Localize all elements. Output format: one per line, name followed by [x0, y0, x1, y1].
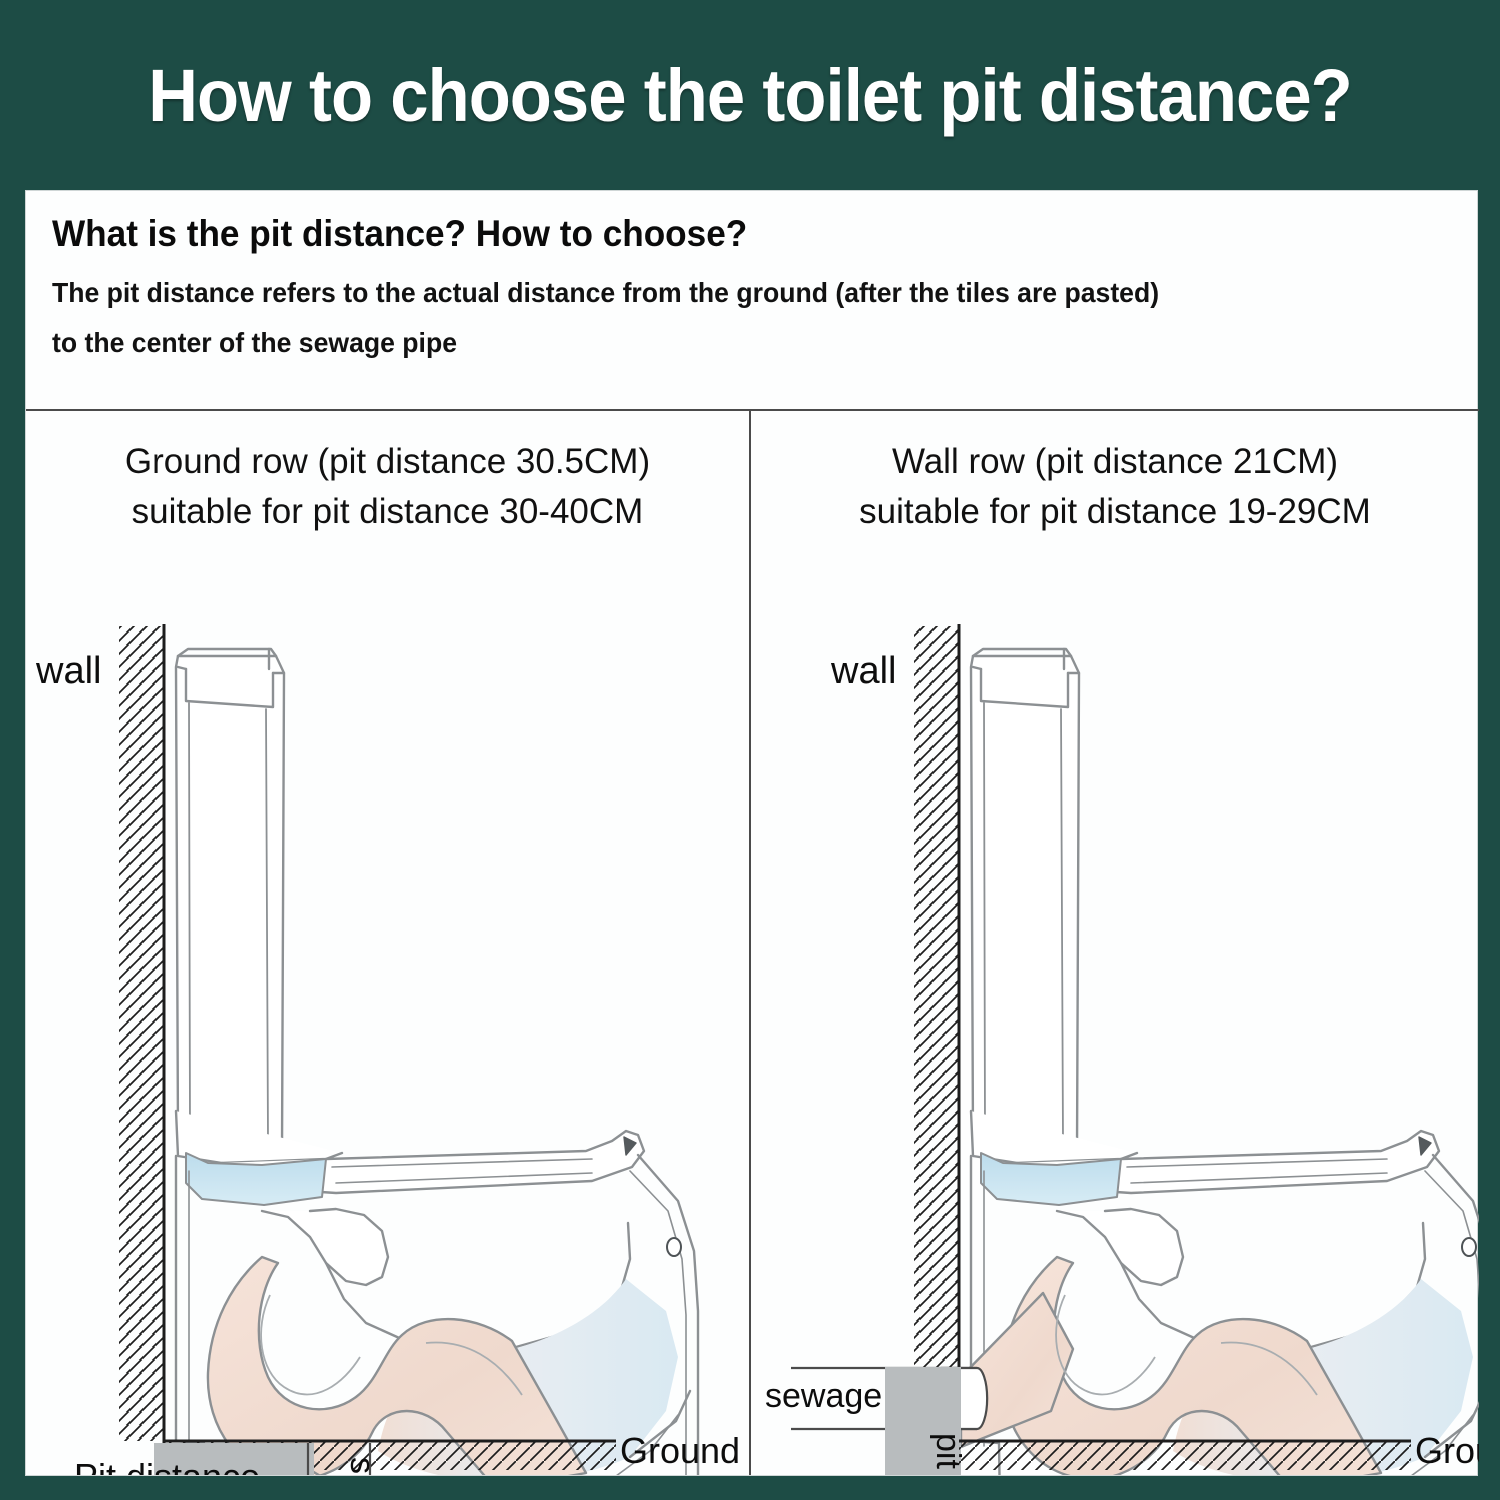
- panel-wall-row: Wall row (pit distance 21CM) suitable fo…: [751, 411, 1479, 1475]
- label-wall-right: wall: [830, 650, 896, 692]
- label-wall-left: wall: [35, 650, 101, 692]
- ground-hatching-right: [959, 1442, 1411, 1470]
- panel-ground-row: Ground row (pit distance 30.5CM) suitabl…: [26, 411, 749, 1475]
- intro-block: What is the pit distance? How to choose?…: [26, 191, 1479, 411]
- intro-line-1: The pit distance refers to the actual di…: [52, 277, 1383, 309]
- content-card: What is the pit distance? How to choose?…: [25, 190, 1478, 1476]
- wall-hatching-left: [119, 626, 164, 1441]
- intro-heading: What is the pit distance? How to choose?: [52, 213, 1383, 255]
- diagram-panels: Ground row (pit distance 30.5CM) suitabl…: [26, 411, 1479, 1475]
- label-pit-distance-left: Pit distance: [74, 1456, 260, 1475]
- label-sewage-pipe-left: sewage pipe: [343, 1457, 381, 1475]
- label-ground-right: Ground: [1415, 1430, 1479, 1471]
- wall-hatching-right: [914, 626, 959, 1441]
- page-title: How to choose the toilet pit distance?: [148, 53, 1351, 138]
- title-banner: How to choose the toilet pit distance?: [0, 0, 1500, 190]
- ground-row-figure: wall: [26, 411, 749, 1475]
- wall-row-figure: wall: [751, 411, 1479, 1475]
- label-ground-left: Ground: [620, 1430, 740, 1471]
- intro-line-2: to the center of the sewage pipe: [52, 327, 1383, 359]
